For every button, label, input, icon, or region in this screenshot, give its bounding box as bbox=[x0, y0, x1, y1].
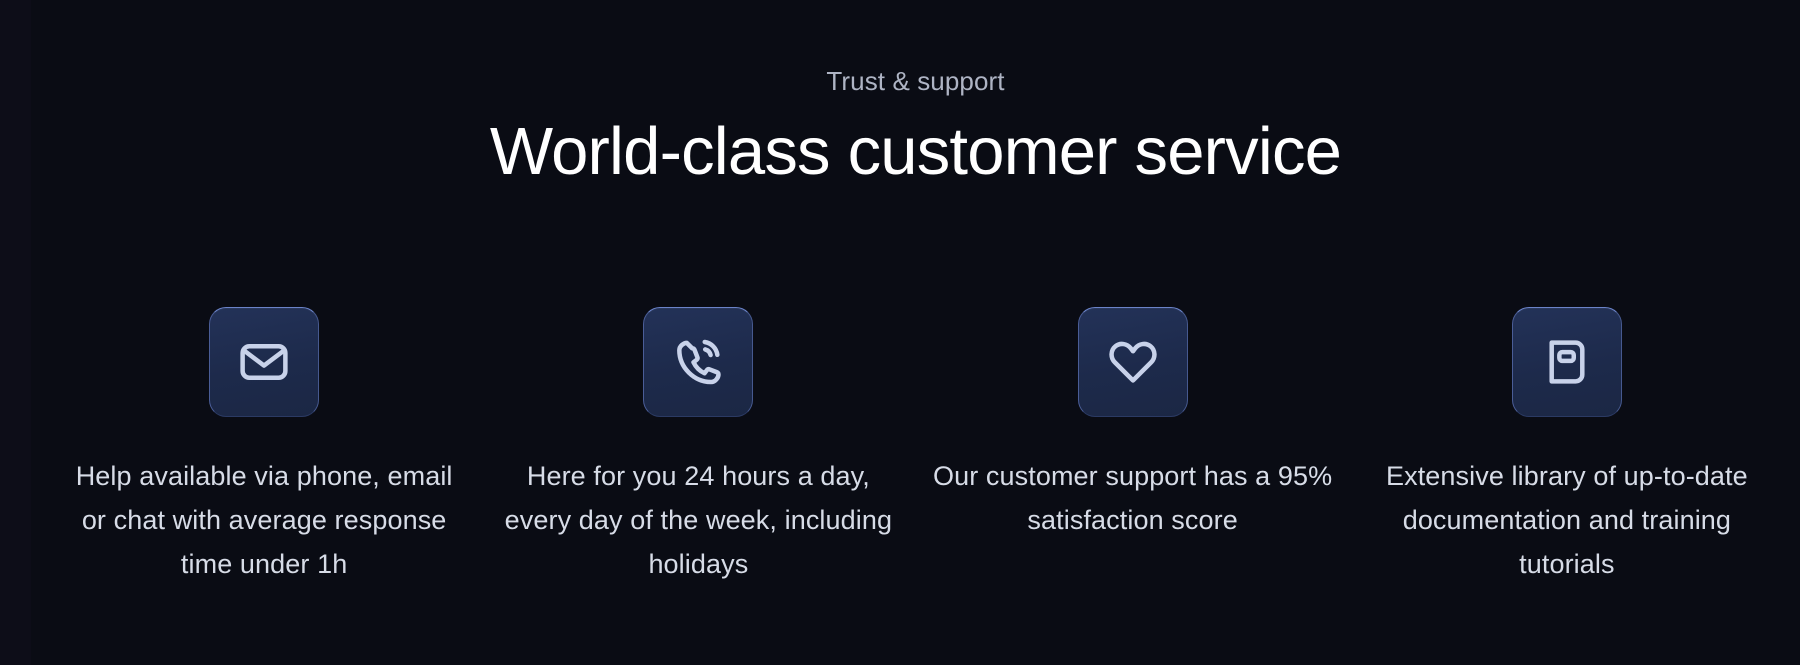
heart-icon bbox=[1106, 335, 1160, 389]
left-edge-strip bbox=[0, 0, 31, 665]
section-eyebrow: Trust & support bbox=[31, 64, 1800, 98]
feature-caption: Our customer support has a 95% satisfact… bbox=[933, 454, 1333, 542]
feature-caption: Here for you 24 hours a day, every day o… bbox=[498, 454, 898, 586]
support-section: Trust & support World-class customer ser… bbox=[0, 0, 1800, 665]
section-header: Trust & support World-class customer ser… bbox=[31, 64, 1800, 192]
section-content: Trust & support World-class customer ser… bbox=[31, 0, 1800, 665]
phone-call-icon bbox=[671, 335, 725, 389]
feature-icon-tile bbox=[643, 307, 753, 417]
book-icon bbox=[1540, 335, 1594, 389]
feature-caption: Extensive library of up-to-date document… bbox=[1367, 454, 1767, 586]
feature-caption: Help available via phone, email or chat … bbox=[64, 454, 464, 586]
feature-list: Help available via phone, email or chat … bbox=[31, 307, 1800, 586]
feature-item: Help available via phone, email or chat … bbox=[47, 307, 481, 586]
feature-item: Extensive library of up-to-date document… bbox=[1350, 307, 1784, 586]
page-title: World-class customer service bbox=[31, 112, 1800, 192]
feature-icon-tile bbox=[1078, 307, 1188, 417]
feature-icon-tile bbox=[209, 307, 319, 417]
feature-item: Here for you 24 hours a day, every day o… bbox=[481, 307, 915, 586]
feature-item: Our customer support has a 95% satisfact… bbox=[916, 307, 1350, 542]
feature-icon-tile bbox=[1512, 307, 1622, 417]
mail-icon bbox=[237, 335, 291, 389]
